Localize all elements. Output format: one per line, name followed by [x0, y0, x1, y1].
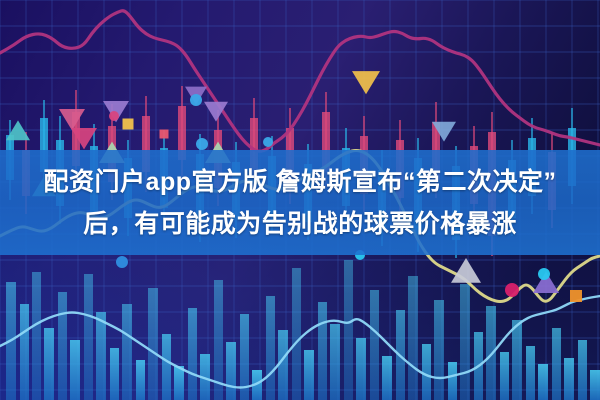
headline-line-1: 配资门户app官方版 詹姆斯宣布“第二次决定” — [44, 161, 557, 203]
headline-band: 配资门户app官方版 詹姆斯宣布“第二次决定” 后，有可能成为告别战的球票价格暴… — [0, 150, 600, 255]
banner-root: 配资门户app官方版 詹姆斯宣布“第二次决定” 后，有可能成为告别战的球票价格暴… — [0, 0, 600, 400]
headline-line-2: 后，有可能成为告别战的球票价格暴涨 — [83, 203, 517, 245]
